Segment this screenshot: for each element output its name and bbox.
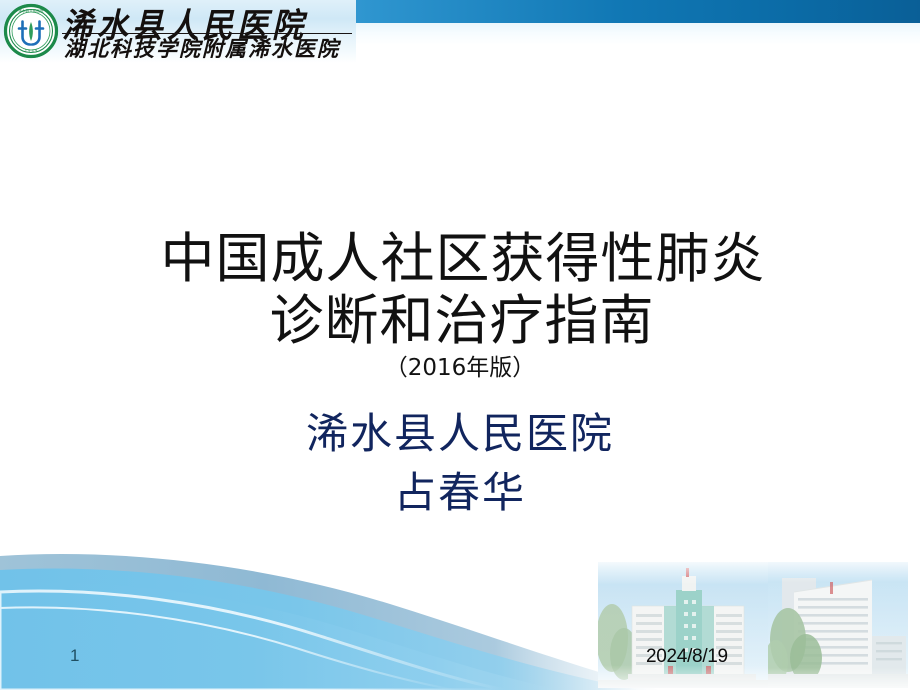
hospital-banner-texts: 浠水县人民医院 湖北科技学院附属浠水医院	[62, 0, 356, 63]
hospital-emblem-icon: 浠水县人民医院 1 9 4 9	[3, 3, 59, 59]
slide-title-block: 中国成人社区获得性肺炎 诊断和治疗指南 （2016年版）	[0, 228, 920, 382]
title-line-1: 中国成人社区获得性肺炎	[6, 228, 920, 290]
hospital-photos: 2024/8/19	[598, 562, 908, 688]
title-version-label: （2016年版）	[0, 354, 920, 382]
page-number: 1	[70, 646, 79, 666]
hospital-affiliation-calligraphy: 湖北科技学院附属浠水医院	[64, 33, 340, 63]
svg-text:1 9 4 9: 1 9 4 9	[25, 49, 38, 53]
hospital-banner: 浠水县人民医院 1 9 4 9 浠水县人民医院 湖北科技学院附属浠水医院	[0, 0, 356, 63]
presenter-organization: 浠水县人民医院	[0, 404, 920, 464]
slide-date: 2024/8/19	[646, 646, 728, 668]
title-line-2: 诊断和治疗指南	[4, 290, 920, 352]
slide-root: 浠水县人民医院 1 9 4 9 浠水县人民医院 湖北科技学院附属浠水医院 中国成…	[0, 0, 920, 690]
presenter-block: 浠水县人民医院 占春华	[0, 404, 920, 522]
hospital-building-photo-left: 2024/8/19	[598, 562, 768, 688]
svg-text:浠水县人民医院: 浠水县人民医院	[18, 8, 44, 13]
hospital-building-photo-right	[768, 562, 908, 688]
presenter-name: 占春华	[0, 464, 920, 522]
